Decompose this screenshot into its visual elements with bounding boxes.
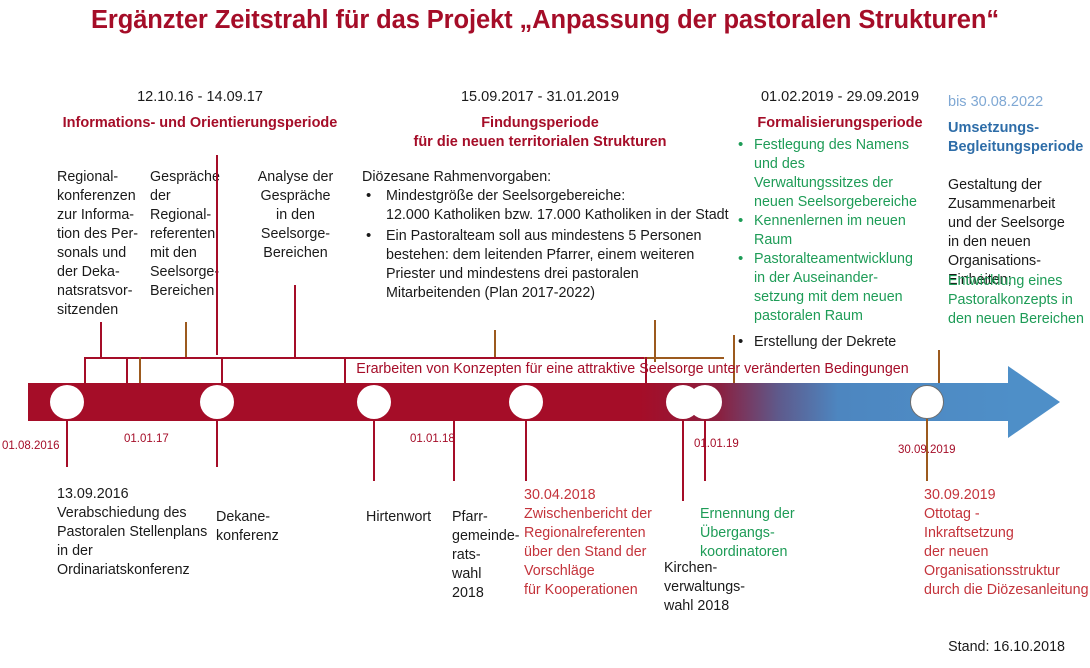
findung-block: Diözesane Rahmenvorgaben: Mindestgröße d…	[362, 168, 732, 305]
period-name-2: Findungsperiode	[370, 114, 710, 133]
tick-date-4: 01.01.19	[694, 438, 739, 450]
stub-regionalkonferenzen	[100, 322, 102, 357]
lower-event-6: Ernennung der Übergangs- koordinatoren	[700, 505, 820, 562]
period-divider-1	[216, 155, 218, 355]
lower-event-5-date: 30.04.2018	[524, 486, 664, 505]
lower-event-5: 30.04.2018 Zwischenbericht der Regionalr…	[524, 486, 664, 600]
lower-event-4: Pfarr- gemeinde- rats- wahl 2018	[452, 508, 518, 603]
timeline-node-3[interactable]	[357, 385, 391, 419]
tick-line-3	[373, 419, 375, 481]
formalisierung-bullet-1: Festlegung des Namens und des Verwaltung…	[738, 136, 934, 212]
findung-bullet-list: Mindestgröße der Seelsorgebereiche: 12.0…	[362, 187, 732, 303]
tick-line-6	[682, 419, 684, 501]
findung-bullet-2: Ein Pastoralteam soll aus mindestens 5 P…	[362, 227, 732, 303]
period-name-4b: Begleitungsperiode	[948, 138, 1090, 157]
tick-line-4	[453, 419, 455, 481]
bar-caption: Erarbeiten von Konzepten für eine attrak…	[345, 361, 920, 377]
formalisierung-bullet-list: Festlegung des Namens und des Verwaltung…	[738, 136, 934, 352]
lower-event-1-text: Verabschiedung des Pastoralen Stellenpla…	[57, 504, 217, 580]
bracket-leg-c	[221, 357, 223, 385]
period-range-1: 12.10.16 - 14.09.17	[55, 88, 345, 106]
bracket-leg-b	[139, 357, 141, 385]
period-range-4: bis 30.08.2022	[948, 93, 1083, 111]
stub-gespraeche	[185, 322, 187, 357]
tick-line-7	[704, 419, 706, 481]
lower-event-8-date: 30.09.2019	[924, 486, 1090, 505]
tick-line-5	[525, 419, 527, 481]
upper-col-regionalkonferenzen: Regional- konferenzen zur Informa- tion …	[57, 168, 147, 320]
timeline-node-1[interactable]	[50, 385, 84, 419]
bracket-leg-left	[84, 357, 86, 385]
tick-date-5: 30.09.2019	[898, 444, 956, 456]
period-name-3: Formalisierungsperiode	[740, 114, 940, 133]
footer-stand: Stand: 16.10.2018	[948, 639, 1065, 655]
period-range-2: 15.09.2017 - 31.01.2019	[370, 88, 710, 106]
page-title: Ergänzter Zeitstrahl für das Projekt „An…	[0, 6, 1090, 35]
timeline-node-7[interactable]	[910, 385, 944, 419]
lower-event-3: Hirtenwort	[366, 508, 446, 527]
formalisierung-block: Festlegung des Namens und des Verwaltung…	[738, 136, 934, 352]
bracket-top-mid	[344, 357, 644, 359]
period-range-3: 01.02.2019 - 29.09.2019	[740, 88, 940, 106]
period-divider-2	[654, 320, 656, 362]
tick-line-2	[216, 419, 218, 467]
period-name-1: Informations- und Orientierungsperiode	[35, 114, 365, 133]
formalisierung-bullet-3: Pastoralteamentwicklung in der Auseinand…	[738, 250, 934, 326]
lower-event-1: 13.09.2016 Verabschiedung des Pastoralen…	[57, 485, 217, 580]
period-name-2b: für die neuen territorialen Strukturen	[360, 133, 720, 152]
lower-event-5-text: Zwischenbericht der Regionalreferenten ü…	[524, 505, 664, 600]
upper-col-analyse: Analyse der Gespräche in den Seelsorge- …	[243, 168, 348, 263]
tick-date-2: 01.01.17	[124, 433, 169, 445]
timeline-node-6[interactable]	[688, 385, 722, 419]
lower-event-8: 30.09.2019 Ottotag - Inkraftsetzung der …	[924, 486, 1090, 600]
lower-event-8-text: Ottotag - Inkraftsetzung der neuen Organ…	[924, 505, 1090, 600]
formalisierung-bullet-2: Kennenlernen im neuen Raum	[738, 212, 934, 250]
stub-analyse	[294, 285, 296, 357]
tick-date-1: 01.08.2016	[2, 440, 60, 452]
stub-findung	[494, 330, 496, 358]
umsetzung-text-green: Entwicklung eines Pastoralkonzepts in de…	[948, 272, 1090, 329]
formalisierung-bullet-4: Erstellung der Dekrete	[738, 333, 934, 352]
bracket-top-left	[84, 357, 344, 359]
timeline-node-2[interactable]	[200, 385, 234, 419]
timeline-arrow-head	[1008, 366, 1060, 438]
lower-event-2: Dekane- konferenz	[216, 508, 298, 546]
findung-bullet-1: Mindestgröße der Seelsorgebereiche: 12.0…	[362, 187, 732, 225]
findung-intro: Diözesane Rahmenvorgaben:	[362, 168, 732, 187]
tick-line-1	[66, 419, 68, 467]
bracket-top-right	[644, 357, 724, 359]
timeline-node-4[interactable]	[509, 385, 543, 419]
tick-date-3: 01.01.18	[410, 433, 455, 445]
lower-event-7: Kirchen- verwaltungs- wahl 2018	[664, 559, 774, 616]
upper-col-gespraeche: Gespräche der Regional- referenten mit d…	[150, 168, 235, 301]
timeline-diagram: Ergänzter Zeitstrahl für das Projekt „An…	[0, 0, 1090, 668]
lower-event-1-date: 13.09.2016	[57, 485, 217, 504]
period-name-4: Umsetzungs-	[948, 119, 1088, 138]
bracket-leg-a	[126, 357, 128, 385]
